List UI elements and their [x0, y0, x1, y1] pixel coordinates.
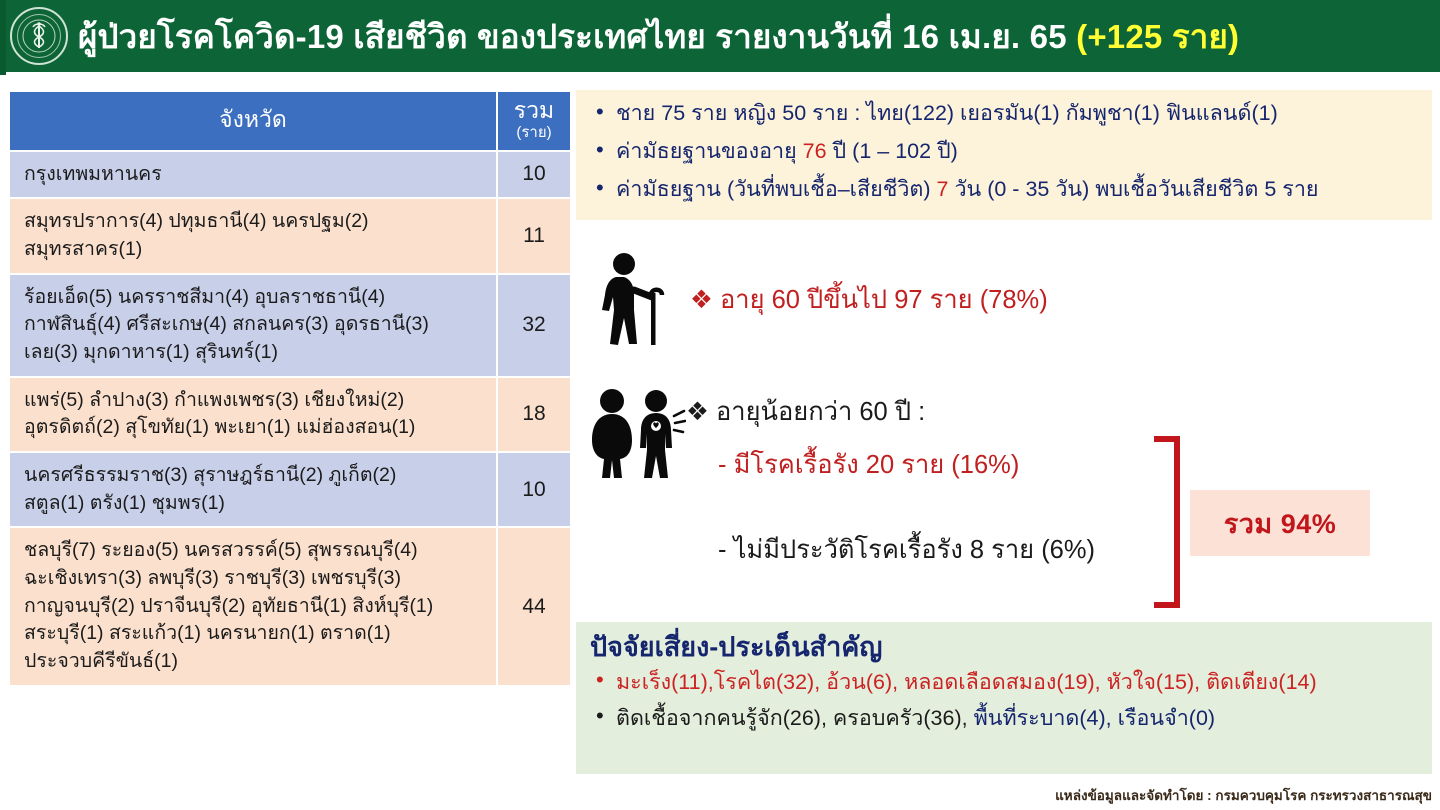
column-header-total-unit: (ราย) [502, 125, 566, 142]
risk-bullet-exposure-black: ติดเชื้อจากคนรู้จัก(26), ครอบครัว(36), [616, 706, 974, 730]
risk-bullet-comorbidities: มะเร็ง(11),โรคไต(32), อ้วน(6), หลอดเลือด… [590, 669, 1418, 697]
table-row: สมุทรปราการ(4) ปทุมธานี(4) นครปฐม(2)สมุท… [10, 199, 570, 272]
province-line: สมุทรสาคร(1) [24, 236, 490, 264]
table-row: ชลบุรี(7) ระยอง(5) นครสวรรค์(5) สุพรรณบุ… [10, 528, 570, 684]
ministry-of-public-health-emblem-icon [10, 7, 68, 65]
summary-bullet: ค่ามัธยฐานของอายุ 76 ปี (1 – 102 ปี) [590, 138, 1418, 165]
total-cell: 10 [498, 152, 570, 198]
page-title-new-cases: (+125 ราย) [1076, 18, 1239, 55]
page-header: ผู้ป่วยโรคโควิด-19 เสียชีวิต ของประเทศไท… [0, 0, 1440, 75]
table-row: แพร่(5) ลำปาง(3) กำแพงเพชร(3) เชียงใหม่(… [10, 378, 570, 451]
summary-bullet-list: ชาย 75 ราย หญิง 50 ราย : ไทย(122) เยอรมั… [590, 100, 1418, 203]
total-cell: 32 [498, 275, 570, 376]
grouping-bracket [1154, 436, 1180, 608]
province-table-container: จังหวัด รวม (ราย) กรุงเทพมหานคร10สมุทรปร… [8, 90, 570, 687]
table-header-row: จังหวัด รวม (ราย) [10, 92, 570, 150]
risk-factors-box: ปัจจัยเสี่ยง-ประเด็นสำคัญ มะเร็ง(11),โรค… [576, 622, 1432, 774]
province-line: ชลบุรี(7) ระยอง(5) นครสวรรค์(5) สุพรรณบุ… [24, 537, 490, 565]
province-line: สตูล(1) ตรัง(1) ชุมพร(1) [24, 490, 490, 518]
province-cell: ชลบุรี(7) ระยอง(5) นครสวรรค์(5) สุพรรณบุ… [10, 528, 496, 684]
age-60-plus-line: ❖ อายุ 60 ปีขึ้นไป 97 ราย (78%) [690, 280, 1048, 320]
risk-bullet-exposure: ติดเชื้อจากคนรู้จัก(26), ครอบครัว(36), พ… [590, 705, 1418, 733]
total-cell: 18 [498, 378, 570, 451]
table-body: กรุงเทพมหานคร10สมุทรปราการ(4) ปทุมธานี(4… [10, 152, 570, 685]
no-chronic-disease-line: - ไม่มีประวัติโรคเรื้อรัง 8 ราย (6%) [718, 530, 1095, 570]
page-title: ผู้ป่วยโรคโควิด-19 เสียชีวิต ของประเทศไท… [78, 20, 1239, 53]
province-line: นครศรีธรรมราช(3) สุราษฎร์ธานี(2) ภูเก็ต(… [24, 462, 490, 490]
table-row: นครศรีธรรมราช(3) สุราษฎร์ธานี(2) ภูเก็ต(… [10, 453, 570, 526]
summary-bullet-highlight: 7 [937, 177, 949, 201]
province-cell: นครศรีธรรมราช(3) สุราษฎร์ธานี(2) ภูเก็ต(… [10, 453, 496, 526]
province-line: ประจวบคีรีขันธ์(1) [24, 648, 490, 676]
infographic-page: ผู้ป่วยโรคโควิด-19 เสียชีวิต ของประเทศไท… [0, 0, 1440, 810]
column-header-total-label: รวม [514, 97, 554, 123]
page-title-main: ผู้ป่วยโรคโควิด-19 เสียชีวิต ของประเทศไท… [78, 18, 1076, 55]
province-line: กาญจนบุรี(2) ปราจีนบุรี(2) อุทัยธานี(1) … [24, 593, 490, 621]
summary-bullet-text-tail: ปี (1 – 102 ปี) [827, 139, 958, 163]
summary-bullet-text: ค่ามัธยฐานของอายุ [616, 139, 803, 163]
header-left-stripe [0, 0, 6, 75]
province-death-table: จังหวัด รวม (ราย) กรุงเทพมหานคร10สมุทรปร… [8, 90, 572, 687]
chronic-disease-line: - มีโรคเรื้อรัง 20 ราย (16%) [718, 445, 1019, 485]
province-cell: กรุงเทพมหานคร [10, 152, 496, 198]
table-row: กรุงเทพมหานคร10 [10, 152, 570, 198]
summary-bullet-text: ค่ามัธยฐาน (วันที่พบเชื้อ–เสียชีวิต) [616, 177, 937, 201]
column-header-province-label: จังหวัด [219, 106, 287, 132]
province-line: สมุทรปราการ(4) ปทุมธานี(4) นครปฐม(2) [24, 208, 490, 236]
province-line: กาฬสินธุ์(4) ศรีสะเกษ(4) สกลนคร(3) อุดรธ… [24, 311, 490, 339]
source-footer: แหล่งข้อมูลและจัดทำโดย : กรมควบคุมโรค กร… [1055, 784, 1432, 806]
province-line: สระบุรี(1) สระแก้ว(1) นครนายก(1) ตราด(1) [24, 620, 490, 648]
summary-bullet-text: ชาย 75 ราย หญิง 50 ราย : ไทย(122) เยอรมั… [616, 101, 1278, 125]
total-percentage-badge: รวม 94% [1190, 490, 1370, 556]
total-cell: 10 [498, 453, 570, 526]
summary-bullet-highlight: 76 [803, 139, 827, 163]
summary-box: ชาย 75 ราย หญิง 50 ราย : ไทย(122) เยอรมั… [576, 90, 1432, 220]
elderly-person-with-cane-icon [596, 252, 674, 348]
column-header-total: รวม (ราย) [498, 92, 570, 150]
summary-bullet: ค่ามัธยฐาน (วันที่พบเชื้อ–เสียชีวิต) 7 ว… [590, 176, 1418, 203]
province-cell: สมุทรปราการ(4) ปทุมธานี(4) นครปฐม(2)สมุท… [10, 199, 496, 272]
obese-and-sick-person-icon [586, 388, 686, 480]
province-line: ร้อยเอ็ด(5) นครราชสีมา(4) อุบลราชธานี(4) [24, 284, 490, 312]
summary-bullet: ชาย 75 ราย หญิง 50 ราย : ไทย(122) เยอรมั… [590, 100, 1418, 127]
age-under-60-line: ❖ อายุน้อยกว่า 60 ปี : [686, 392, 925, 432]
right-panel: ชาย 75 ราย หญิง 50 ราย : ไทย(122) เยอรมั… [576, 90, 1432, 802]
province-line: แพร่(5) ลำปาง(3) กำแพงเพชร(3) เชียงใหม่(… [24, 387, 490, 415]
total-cell: 11 [498, 199, 570, 272]
age-statistics-block: ❖ อายุ 60 ปีขึ้นไป 97 ราย (78%) ❖ อายุน้… [576, 240, 1432, 580]
column-header-province: จังหวัด [10, 92, 496, 150]
province-line: เลย(3) มุกดาหาร(1) สุรินทร์(1) [24, 339, 490, 367]
province-cell: แพร่(5) ลำปาง(3) กำแพงเพชร(3) เชียงใหม่(… [10, 378, 496, 451]
summary-bullet-text-tail: วัน (0 - 35 วัน) พบเชื้อวันเสียชีวิต 5 ร… [949, 177, 1319, 201]
risk-factors-list: มะเร็ง(11),โรคไต(32), อ้วน(6), หลอดเลือด… [590, 669, 1418, 733]
province-cell: ร้อยเอ็ด(5) นครราชสีมา(4) อุบลราชธานี(4)… [10, 275, 496, 376]
total-cell: 44 [498, 528, 570, 684]
table-row: ร้อยเอ็ด(5) นครราชสีมา(4) อุบลราชธานี(4)… [10, 275, 570, 376]
risk-factors-title: ปัจจัยเสี่ยง-ประเด็นสำคัญ [590, 632, 1418, 663]
risk-bullet-exposure-blue: พื้นที่ระบาด(4), เรือนจำ(0) [974, 706, 1216, 730]
province-line: อุตรดิตถ์(2) สุโขทัย(1) พะเยา(1) แม่ฮ่อง… [24, 414, 490, 442]
province-line: กรุงเทพมหานคร [24, 161, 490, 189]
province-line: ฉะเชิงเทรา(3) ลพบุรี(3) ราชบุรี(3) เพชรบ… [24, 565, 490, 593]
